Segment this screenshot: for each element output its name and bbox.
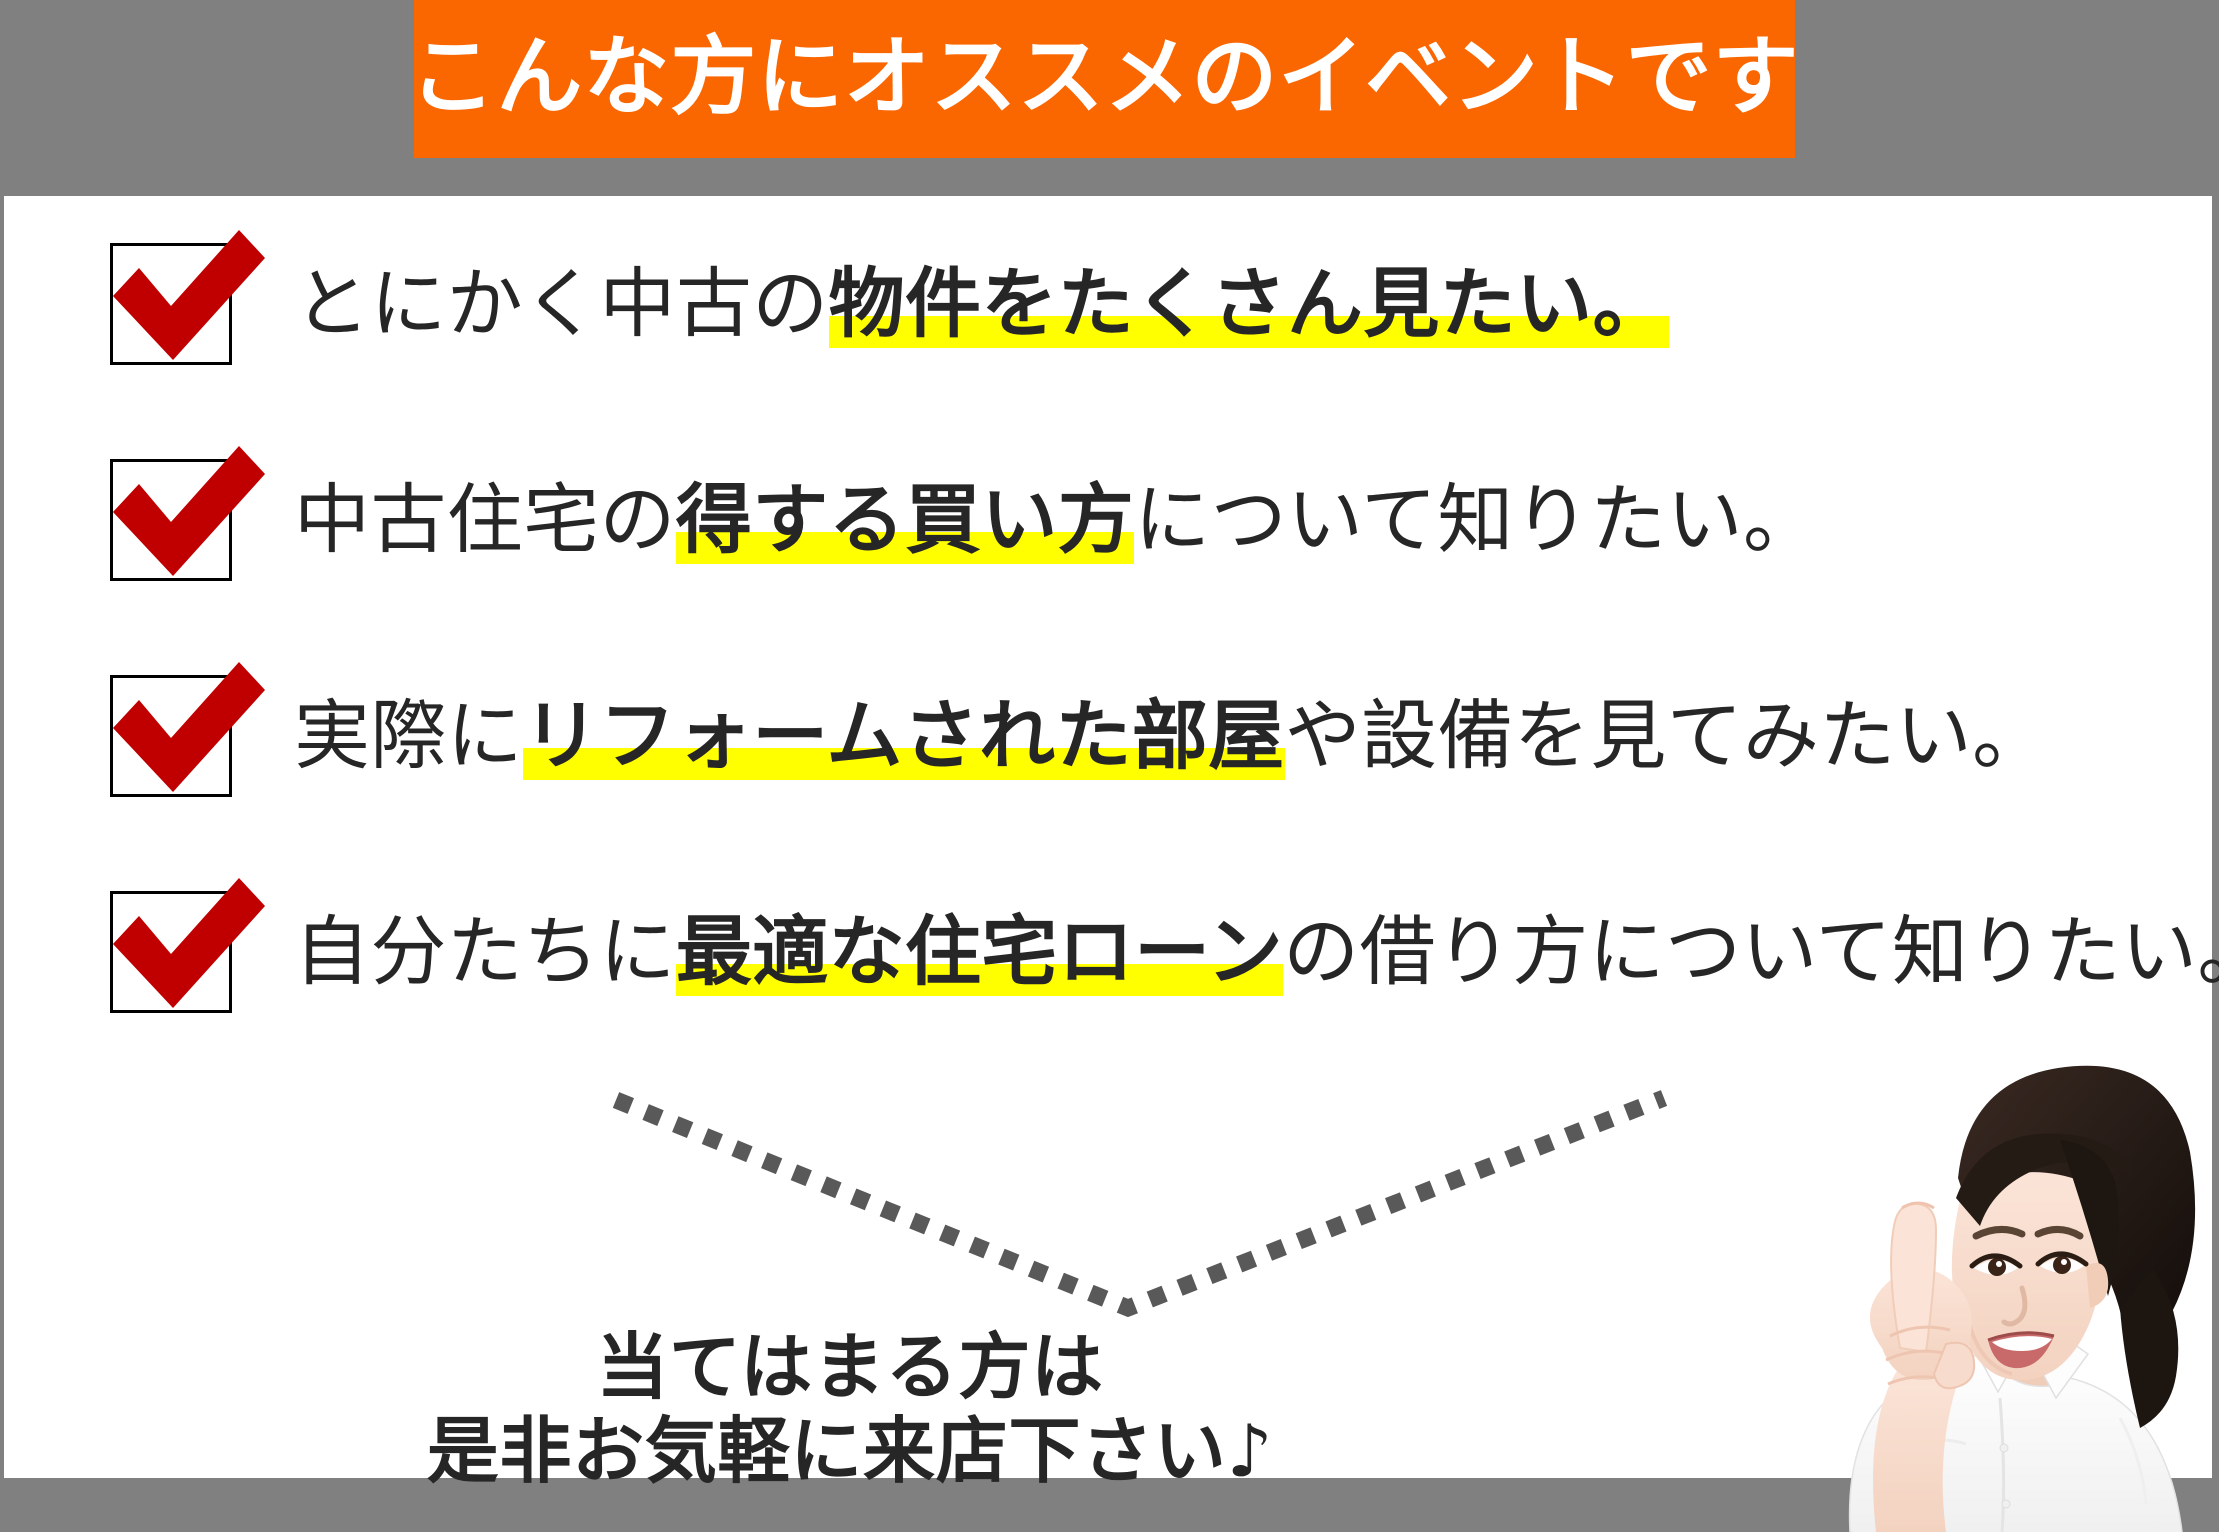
red-check-mark-icon bbox=[99, 646, 267, 814]
page-title: こんな方にオススメのイベントです bbox=[410, 34, 1800, 124]
woman-illustration bbox=[1700, 1018, 2219, 1532]
checkbox-4[interactable] bbox=[110, 891, 232, 1013]
text-pre: 自分たちに bbox=[294, 907, 676, 996]
checkbox-2[interactable] bbox=[110, 459, 232, 581]
checklist: とにかく中古の物件をたくさん見たい。 中古住宅の得する買い方について知りたい。 … bbox=[0, 196, 2219, 1060]
red-check-mark-icon bbox=[99, 214, 267, 382]
checklist-item-text: 実際にリフォームされた部屋や設備を見てみたい。 bbox=[294, 698, 2048, 774]
checkbox-3[interactable] bbox=[110, 675, 232, 797]
text-highlight: 物件をたくさん見たい。 bbox=[829, 259, 1669, 348]
checklist-item-text: 自分たちに最適な住宅ローンの借り方について知りたい。 bbox=[294, 914, 2219, 990]
checkbox-1[interactable] bbox=[110, 243, 232, 365]
text-highlight: 最適な住宅ローン bbox=[676, 907, 1283, 996]
checklist-item: 実際にリフォームされた部屋や設備を見てみたい。 bbox=[0, 628, 2219, 844]
dotted-chevron-down-arrow-icon bbox=[580, 1060, 1700, 1330]
promo-poster: こんな方にオススメのイベントです とにかく中古の物件をたくさん見たい。 中古住宅… bbox=[0, 0, 2219, 1532]
text-highlight: リフォームされた部屋 bbox=[523, 691, 1285, 780]
checklist-item-text: 中古住宅の得する買い方について知りたい。 bbox=[294, 482, 1819, 558]
checklist-item: とにかく中古の物件をたくさん見たい。 bbox=[0, 196, 2219, 412]
text-post: や設備を見てみたい。 bbox=[1285, 691, 2049, 780]
text-post: の借り方について知りたい。 bbox=[1283, 907, 2219, 996]
cta-line-2: 是非お気軽に来店下さい♪ bbox=[0, 1409, 1700, 1493]
checklist-item-text: とにかく中古の物件をたくさん見たい。 bbox=[294, 266, 1669, 342]
cta-line-1: 当てはまる方は bbox=[0, 1325, 1700, 1409]
call-to-action: 当てはまる方は 是非お気軽に来店下さい♪ bbox=[0, 1325, 1700, 1493]
text-post: について知りたい。 bbox=[1134, 475, 1819, 564]
text-pre: 実際に bbox=[294, 691, 523, 780]
text-pre: 中古住宅の bbox=[294, 475, 676, 564]
text-highlight: 得する買い方 bbox=[676, 475, 1134, 564]
header-banner: こんな方にオススメのイベントです bbox=[414, 0, 1795, 158]
red-check-mark-icon bbox=[99, 430, 267, 598]
checklist-item: 中古住宅の得する買い方について知りたい。 bbox=[0, 412, 2219, 628]
smiling-woman-pointing-up-photo bbox=[1700, 1018, 2219, 1532]
red-check-mark-icon bbox=[99, 862, 267, 1030]
text-pre: とにかく中古の bbox=[294, 259, 829, 348]
